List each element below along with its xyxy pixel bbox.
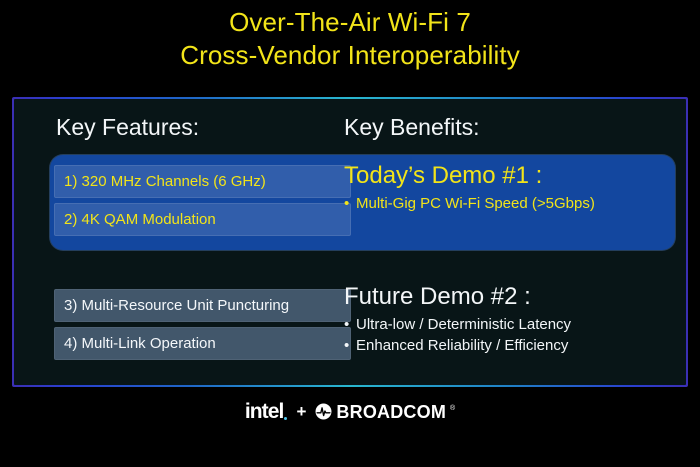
broadcom-pulse-icon xyxy=(315,403,332,420)
benefit-title-todays-demo: Today’s Demo #1 : xyxy=(344,161,686,190)
key-features-heading: Key Features: xyxy=(56,114,199,140)
feature-item-4: 4) Multi-Link Operation xyxy=(54,327,351,360)
benefit-bullet: Enhanced Reliability / Efficiency xyxy=(344,335,686,356)
content-panel-border: Key Features: Key Benefits: 1) 320 MHz C… xyxy=(12,97,688,387)
page-title-line-2: Cross-Vendor Interoperability xyxy=(0,39,700,72)
intel-dot-icon xyxy=(284,417,287,420)
page-title: Over-The-Air Wi-Fi 7 Cross-Vendor Intero… xyxy=(0,6,700,72)
broadcom-trademark: ® xyxy=(450,405,455,412)
benefit-bullets-future-demo: Ultra-low / Deterministic Latency Enhanc… xyxy=(344,314,686,356)
benefit-block-future-demo: Future Demo #2 : Ultra-low / Determinist… xyxy=(344,282,686,356)
benefit-title-future-demo: Future Demo #2 : xyxy=(344,282,686,311)
intel-wordmark: intel xyxy=(245,401,284,422)
benefit-block-todays-demo: Today’s Demo #1 : Multi-Gig PC Wi-Fi Spe… xyxy=(344,161,686,214)
logo-bar: intel + BROADCOM ® xyxy=(0,401,700,422)
broadcom-logo: BROADCOM ® xyxy=(315,403,455,421)
page-title-line-1: Over-The-Air Wi-Fi 7 xyxy=(0,6,700,39)
key-benefits-heading: Key Benefits: xyxy=(344,114,480,140)
benefit-bullet: Ultra-low / Deterministic Latency xyxy=(344,314,686,335)
slide-root: Over-The-Air Wi-Fi 7 Cross-Vendor Intero… xyxy=(0,0,700,467)
broadcom-wordmark: BROADCOM xyxy=(336,403,446,421)
plus-icon: + xyxy=(296,403,306,420)
feature-item-2: 2) 4K QAM Modulation xyxy=(54,203,351,236)
intel-logo: intel xyxy=(245,401,288,422)
feature-item-3: 3) Multi-Resource Unit Puncturing xyxy=(54,289,351,322)
feature-item-1: 1) 320 MHz Channels (6 GHz) xyxy=(54,165,351,198)
content-panel: Key Features: Key Benefits: 1) 320 MHz C… xyxy=(14,99,686,385)
benefit-bullet: Multi-Gig PC Wi-Fi Speed (>5Gbps) xyxy=(344,193,686,214)
benefit-bullets-todays-demo: Multi-Gig PC Wi-Fi Speed (>5Gbps) xyxy=(344,193,686,214)
